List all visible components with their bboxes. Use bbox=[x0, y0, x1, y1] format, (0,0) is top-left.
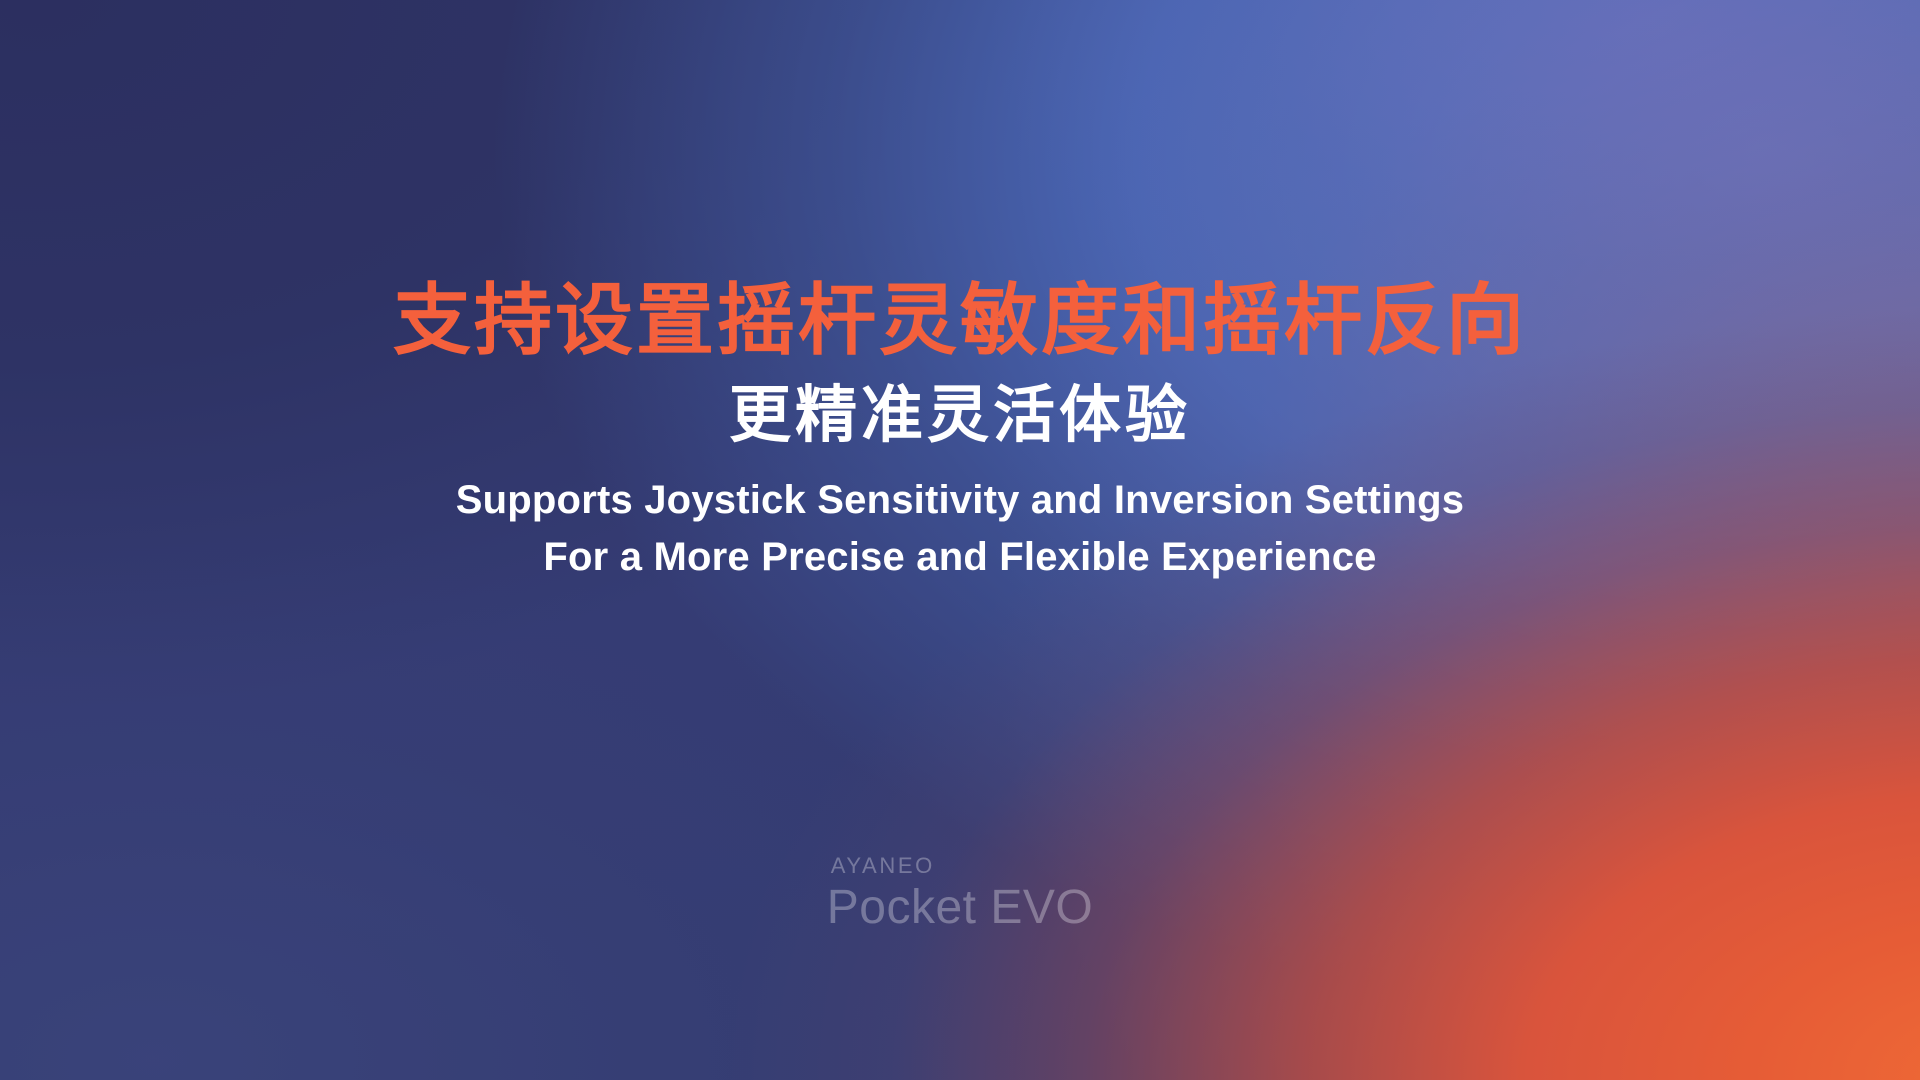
slide-content: 支持设置摇杆灵敏度和摇杆反向 更精准灵活体验 Supports Joystick… bbox=[0, 0, 1920, 1080]
english-subtitle-block: Supports Joystick Sensitivity and Invers… bbox=[456, 472, 1464, 586]
subheadline-chinese: 更精准灵活体验 bbox=[729, 382, 1191, 450]
logo-model-name: Pocket EVO bbox=[827, 879, 1093, 938]
product-watermark-logo: AYANEO Pocket EVO bbox=[827, 855, 1093, 938]
english-subtitle-line-2: For a More Precise and Flexible Experien… bbox=[456, 529, 1464, 586]
english-subtitle-line-1: Supports Joystick Sensitivity and Invers… bbox=[456, 472, 1464, 529]
promo-slide: 支持设置摇杆灵敏度和摇杆反向 更精准灵活体验 Supports Joystick… bbox=[0, 0, 1920, 1080]
logo-brand-name: AYANEO bbox=[827, 855, 1093, 877]
headline-chinese: 支持设置摇杆灵敏度和摇杆反向 bbox=[393, 278, 1527, 362]
